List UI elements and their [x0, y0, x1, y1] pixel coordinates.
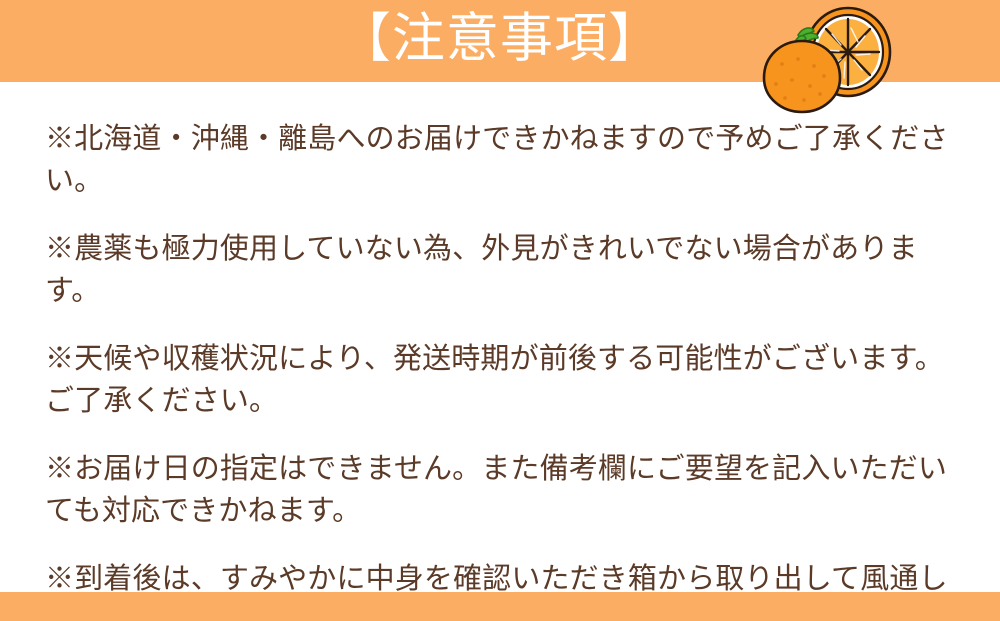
- notice-item: ※天候や収穫状況により、発送時期が前後する可能性がございます。ご了承ください。: [45, 338, 970, 422]
- header-band: 【注意事項】: [0, 0, 1000, 82]
- notice-item: ※お届け日の指定はできません。また備考欄にご要望を記入いただいても対応できかねま…: [45, 448, 970, 532]
- notice-item: ※農薬も極力使用していない為、外見がきれいでない場合があります。: [45, 228, 970, 312]
- notice-list: ※北海道・沖縄・離島へのお届けできかねますので予めご了承ください。 ※農薬も極力…: [45, 118, 970, 621]
- notice-item: ※北海道・沖縄・離島へのお届けできかねますので予めご了承ください。: [45, 118, 970, 202]
- notice-page: 【注意事項】: [0, 0, 1000, 621]
- footer-band: [0, 592, 1000, 621]
- page-title: 【注意事項】: [0, 8, 1000, 70]
